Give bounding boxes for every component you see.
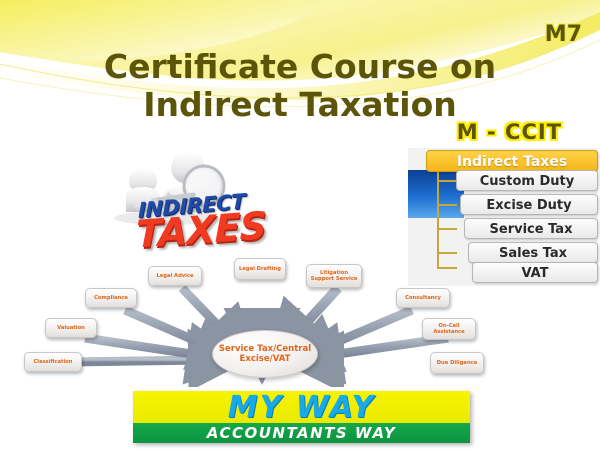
logo-secondary-band: ACCOUNTANTS WAY <box>133 423 470 443</box>
indirect-taxes-hero-image: INDIRECT TAXES <box>108 146 338 251</box>
page-title: Certificate Course on Indirect Taxation <box>0 48 600 124</box>
logo-primary-text: MY WAY <box>228 391 376 425</box>
table-row-service-tax[interactable]: Service Tax <box>464 218 598 239</box>
table-tick-2 <box>437 204 457 206</box>
slide-badge-mccit: M - CCIT <box>457 120 562 144</box>
hero-word-taxes: TAXES <box>136 203 266 256</box>
slide-badge-m7: M7 <box>545 22 582 47</box>
table-row-custom-duty[interactable]: Custom Duty <box>456 170 598 191</box>
logo-secondary-text: ACCOUNTANTS WAY <box>207 424 396 442</box>
logo-primary-band: MY WAY <box>133 391 470 423</box>
diagram-node-valuation[interactable]: Valuation <box>45 318 97 338</box>
diagram-node-legal-advice[interactable]: Legal Advice <box>148 266 202 286</box>
diagram-hub-service-tax: Service Tax/Central Excise/VAT <box>212 330 318 378</box>
presentation-slide: M7 Certificate Course on Indirect Taxati… <box>0 0 600 450</box>
diagram-node-compliance[interactable]: Compliance <box>85 288 137 308</box>
page-title-line-1: Certificate Course on <box>0 48 600 86</box>
diagram-node-classification[interactable]: Classification <box>24 352 82 372</box>
table-tick-3 <box>437 228 457 230</box>
diagram-node-consultancy[interactable]: Consultancy <box>396 288 450 308</box>
my-way-accountants-logo: MY WAY ACCOUNTANTS WAY <box>133 391 470 443</box>
table-tick-1 <box>437 180 457 182</box>
table-header-indirect-taxes: Indirect Taxes <box>426 150 598 172</box>
page-title-line-2: Indirect Taxation <box>0 86 600 124</box>
table-row-excise-duty[interactable]: Excise Duty <box>460 194 598 215</box>
services-radial-diagram: Service Tax/Central Excise/VAT Classific… <box>0 252 600 387</box>
diagram-node-legal-drafting[interactable]: Legal Drafting <box>234 258 286 280</box>
diagram-node-on-call-assistance[interactable]: On-Call Assistance <box>422 318 476 340</box>
diagram-node-litigation-support-service[interactable]: Litigation Support Service <box>306 264 362 288</box>
diagram-node-due-diligence[interactable]: Due Diligence <box>430 352 484 374</box>
